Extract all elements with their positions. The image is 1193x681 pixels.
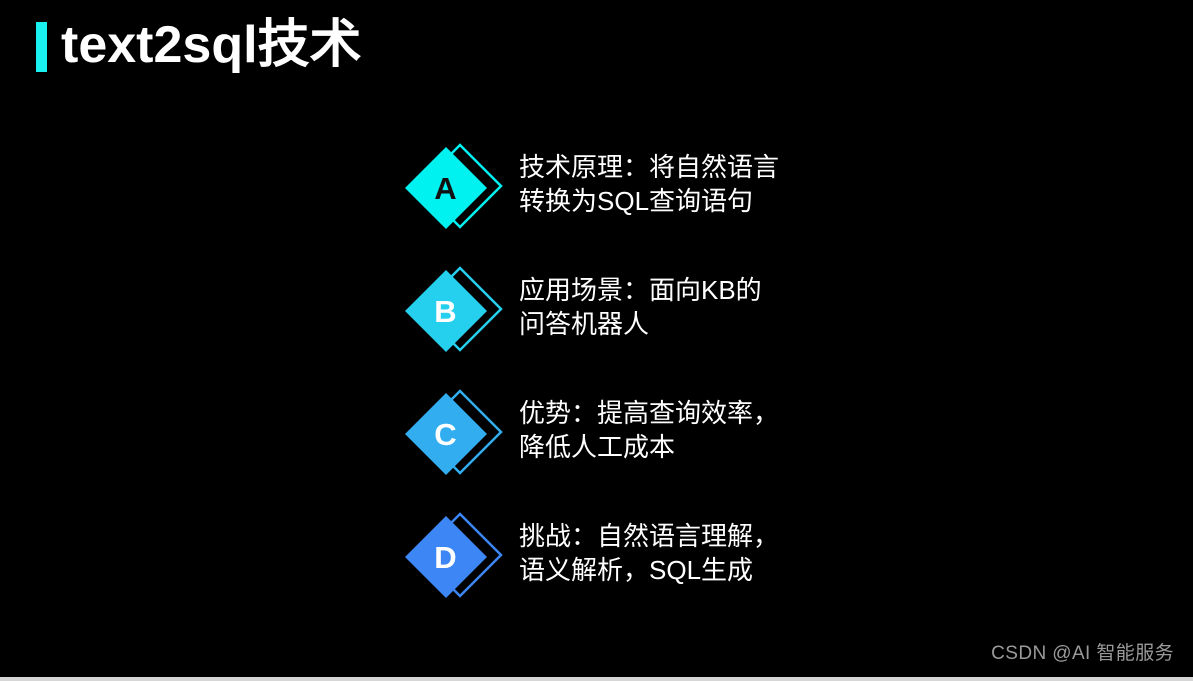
- diamond-letter: B: [405, 261, 487, 361]
- title-accent-bar: [36, 22, 47, 72]
- list-item-text: 优势：提高查询效率， 降低人工成本: [519, 396, 779, 464]
- diamond-badge-b: B: [405, 261, 505, 361]
- list-item-text: 应用场景：面向KB的 问答机器人: [519, 273, 762, 341]
- diamond-badge-d: D: [405, 507, 505, 607]
- diamond-letter: A: [405, 138, 487, 238]
- diamond-badge-c: C: [405, 384, 505, 484]
- slide-title-row: text2sql技术: [36, 12, 362, 78]
- page-title: text2sql技术: [61, 19, 362, 71]
- diamond-bullet-list: A 技术原理：将自然语言 转换为SQL查询语句 B 应用场景：面向KB的 问答机…: [405, 138, 779, 630]
- list-item-text: 技术原理：将自然语言 转换为SQL查询语句: [519, 150, 779, 218]
- list-item[interactable]: D 挑战：自然语言理解， 语义解析，SQL生成: [405, 507, 779, 630]
- diamond-letter: C: [405, 384, 487, 484]
- slide-canvas: text2sql技术 A 技术原理：将自然语言 转换为SQL查询语句: [0, 0, 1193, 681]
- bottom-edge-strip: [0, 677, 1193, 681]
- diamond-badge-a: A: [405, 138, 505, 238]
- diamond-letter: D: [405, 507, 487, 607]
- list-item[interactable]: C 优势：提高查询效率， 降低人工成本: [405, 384, 779, 507]
- watermark-label: CSDN @AI 智能服务: [991, 644, 1174, 663]
- list-item[interactable]: A 技术原理：将自然语言 转换为SQL查询语句: [405, 138, 779, 261]
- list-item[interactable]: B 应用场景：面向KB的 问答机器人: [405, 261, 779, 384]
- list-item-text: 挑战：自然语言理解， 语义解析，SQL生成: [519, 519, 779, 587]
